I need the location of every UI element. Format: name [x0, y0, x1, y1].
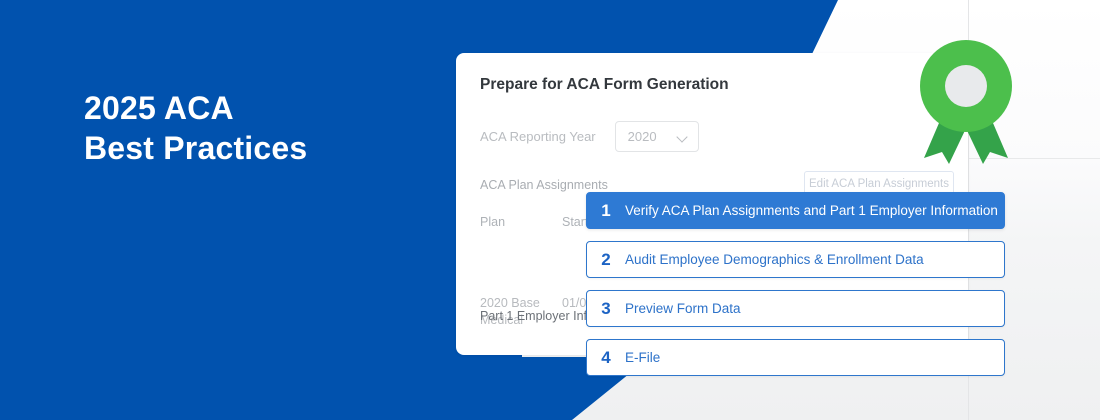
- plan-assignments-label: ACA Plan Assignments: [480, 178, 608, 192]
- steps-list: 1 Verify ACA Plan Assignments and Part 1…: [586, 192, 1005, 376]
- step-number-3: 3: [587, 299, 625, 319]
- chevron-down-icon: [678, 133, 689, 140]
- step-number-4: 4: [587, 348, 625, 368]
- step-label-3: Preview Form Data: [625, 301, 741, 316]
- reporting-year-label: ACA Reporting Year: [480, 129, 596, 144]
- step-label-1: Verify ACA Plan Assignments and Part 1 E…: [625, 203, 998, 218]
- step-item-4[interactable]: 4 E-File: [586, 339, 1005, 376]
- step-number-2: 2: [587, 250, 625, 270]
- promo-banner: 2025 ACA Best Practices Prepare for ACA …: [0, 0, 1100, 420]
- card-title: Prepare for ACA Form Generation: [480, 76, 729, 94]
- step-item-3[interactable]: 3 Preview Form Data: [586, 290, 1005, 327]
- column-header-plan: Plan: [480, 215, 562, 229]
- reporting-year-select[interactable]: 2020: [615, 121, 699, 152]
- reporting-year-value: 2020: [628, 129, 657, 144]
- step-item-1[interactable]: 1 Verify ACA Plan Assignments and Part 1…: [586, 192, 1005, 229]
- reporting-year-row: ACA Reporting Year 2020: [480, 121, 699, 152]
- step-item-2[interactable]: 2 Audit Employee Demographics & Enrollme…: [586, 241, 1005, 278]
- step-label-2: Audit Employee Demographics & Enrollment…: [625, 252, 924, 267]
- step-number-1: 1: [587, 201, 625, 221]
- page-title: 2025 ACA Best Practices: [84, 88, 414, 168]
- step-label-4: E-File: [625, 350, 660, 365]
- page-title-line-1: 2025 ACA: [84, 88, 414, 128]
- page-title-line-2: Best Practices: [84, 128, 414, 168]
- award-ribbon-icon: [918, 36, 1014, 166]
- part1-employer-info-label: Part 1 Employer Inf: [480, 309, 587, 323]
